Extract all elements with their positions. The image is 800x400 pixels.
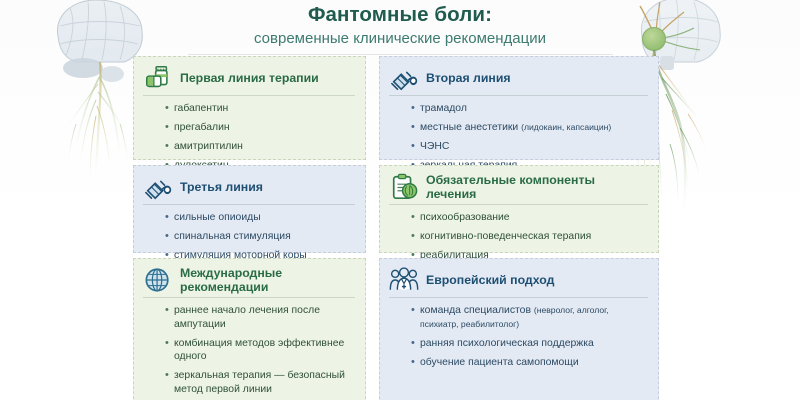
list-item-text: раннее начало лечения после ампутации: [174, 305, 320, 330]
list-item-text: спинальная стимуляция: [174, 231, 291, 242]
list-item-text: когнитивно-поведенческая терапия: [420, 231, 591, 242]
card-title: Международные рекомендации: [180, 266, 355, 294]
list-item-text: ЧЭНС: [420, 141, 449, 152]
list-item: габапентин: [165, 102, 355, 116]
card-title: Третья линия: [180, 180, 263, 194]
card-header: Обязательные компоненты лечения: [389, 173, 648, 205]
medical-team-icon: [389, 266, 419, 294]
list-item: психообразование: [411, 211, 648, 225]
page-title: Фантомные боли:: [150, 3, 650, 27]
list-item: зеркальная терапия — безопасный метод пе…: [165, 369, 355, 396]
card-header: Вторая линия: [389, 64, 648, 96]
globe-icon: [143, 266, 173, 294]
card-third-line[interactable]: Третья линия сильные опиоиды спинальная …: [133, 165, 366, 253]
list-item: обучение пациента самопомощи: [411, 356, 648, 370]
card-second-line[interactable]: Вторая линия трамадол местные анестетики…: [379, 56, 659, 160]
infographic-page: Фантомные боли: современные клинические …: [0, 0, 800, 400]
card-bullet-list: команда специалистов (невролог, алголог,…: [411, 304, 648, 375]
list-item: когнитивно-поведенческая терапия: [411, 230, 648, 244]
card-international-recommendations[interactable]: Международные рекомендации раннее начало…: [133, 258, 366, 400]
card-title: Первая линия терапии: [180, 71, 319, 85]
card-title: Европейский подход: [426, 273, 554, 287]
list-item: амитриптилин: [165, 140, 355, 154]
list-item: местные анестетики (лидокаин, капсаицин): [411, 121, 648, 135]
list-item: ранняя психологическая поддержка: [411, 337, 648, 351]
list-item: команда специалистов (невролог, алголог,…: [411, 304, 648, 331]
card-title: Вторая линия: [426, 71, 511, 85]
list-item: прегабалин: [165, 121, 355, 135]
card-title: Обязательные компоненты лечения: [426, 173, 648, 201]
pill-bottle-icon: [143, 64, 173, 92]
syringe-icon: [389, 64, 419, 92]
recommendation-cards-grid: Первая линия терапии габапентин прегабал…: [133, 56, 659, 368]
page-subtitle: современные клинические рекомендации: [150, 30, 650, 48]
brain-with-neuron-illustration: [636, 0, 800, 224]
list-item-text: амитриптилин: [174, 141, 243, 152]
card-header: Европейский подход: [389, 266, 648, 298]
card-european-approach[interactable]: Европейский подход команда специалистов …: [379, 258, 659, 400]
list-item-subtext: (лидокаин, капсаицин): [521, 122, 611, 132]
list-item-text: команда специалистов: [420, 305, 534, 316]
card-header: Первая линия терапии: [143, 64, 355, 96]
list-item-text: зеркальная терапия — безопасный метод пе…: [174, 370, 345, 395]
list-item-text: габапентин: [174, 103, 228, 114]
list-item: сильные опиоиды: [165, 211, 355, 225]
list-item-text: сильные опиоиды: [174, 212, 261, 223]
card-header: Третья линия: [143, 173, 355, 205]
list-item-text: прегабалин: [174, 122, 230, 133]
list-item-text: психообразование: [420, 212, 510, 223]
card-first-line-therapy[interactable]: Первая линия терапии габапентин прегабал…: [133, 56, 366, 160]
list-item-text: комбинация методов эффективнее одного: [174, 338, 344, 363]
list-item: комбинация методов эффективнее одного: [165, 337, 355, 364]
list-item: раннее начало лечения после ампутации: [165, 304, 355, 331]
list-item-text: местные анестетики: [420, 122, 521, 133]
card-mandatory-components[interactable]: Обязательные компоненты лечения психообр…: [379, 165, 659, 253]
card-bullet-list: раннее начало лечения после ампутации ко…: [165, 304, 355, 400]
list-item-text: ранняя психологическая поддержка: [420, 338, 594, 349]
syringe-icon: [143, 173, 173, 201]
list-item: трамадол: [411, 102, 648, 116]
clipboard-brain-icon: [389, 173, 419, 201]
list-item: ЧЭНС: [411, 140, 648, 154]
list-item-text: обучение пациента самопомощи: [420, 357, 579, 368]
list-item-text: трамадол: [420, 103, 467, 114]
list-item: спинальная стимуляция: [165, 230, 355, 244]
card-header: Международные рекомендации: [143, 266, 355, 298]
header: Фантомные боли: современные клинические …: [150, 3, 650, 55]
